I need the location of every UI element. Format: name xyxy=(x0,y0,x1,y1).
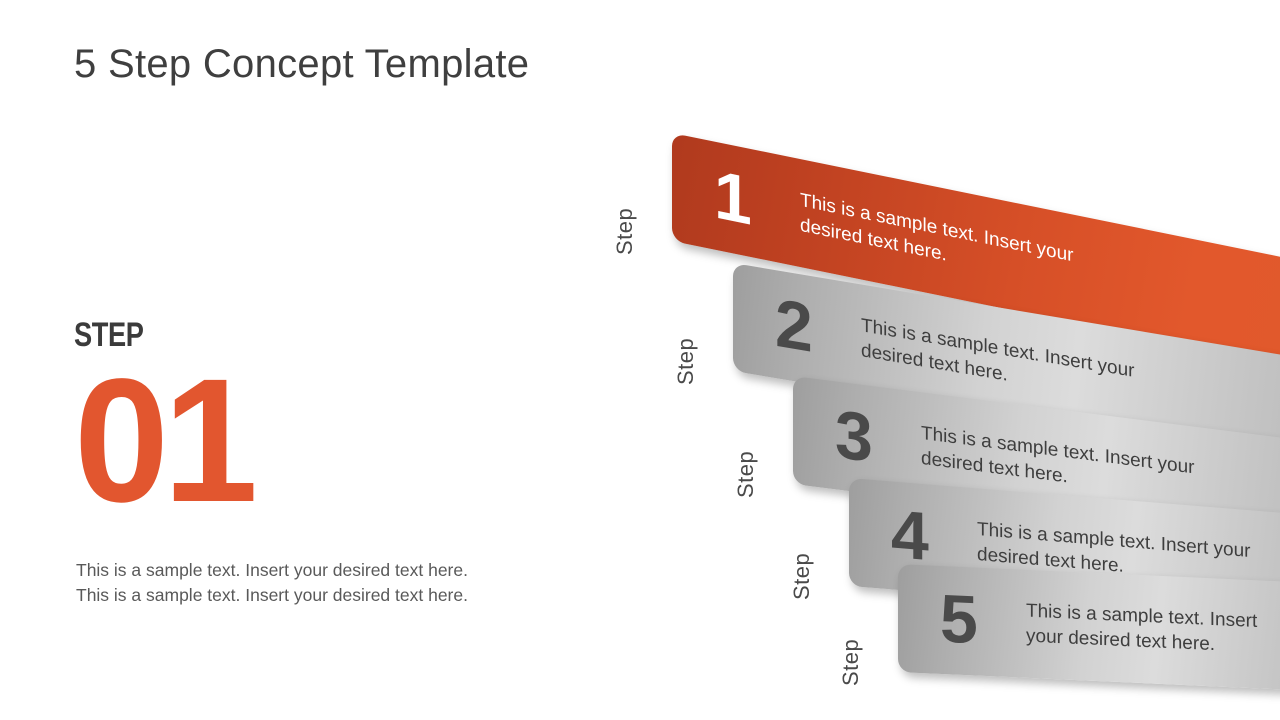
step-caption-3: Step xyxy=(733,451,759,498)
step-number-2: 2 xyxy=(775,289,813,363)
slide-canvas: 5 Step Concept Template STEP 01 This is … xyxy=(0,0,1280,720)
step-number-5: 5 xyxy=(940,585,978,655)
step-bar-5[interactable]: 5 This is a sample text. Insert your des… xyxy=(898,564,1280,695)
step-number-1: 1 xyxy=(714,160,752,236)
step-caption-1: Step xyxy=(612,208,638,255)
step-number-4: 4 xyxy=(891,500,929,571)
step-number-3: 3 xyxy=(835,400,873,473)
five-step-staircase-diagram: Step 1 This is a sample text. Insert you… xyxy=(0,0,1280,720)
step-caption-2: Step xyxy=(673,338,699,385)
step-caption-4: Step xyxy=(789,553,815,600)
step-caption-5: Step xyxy=(838,639,864,686)
